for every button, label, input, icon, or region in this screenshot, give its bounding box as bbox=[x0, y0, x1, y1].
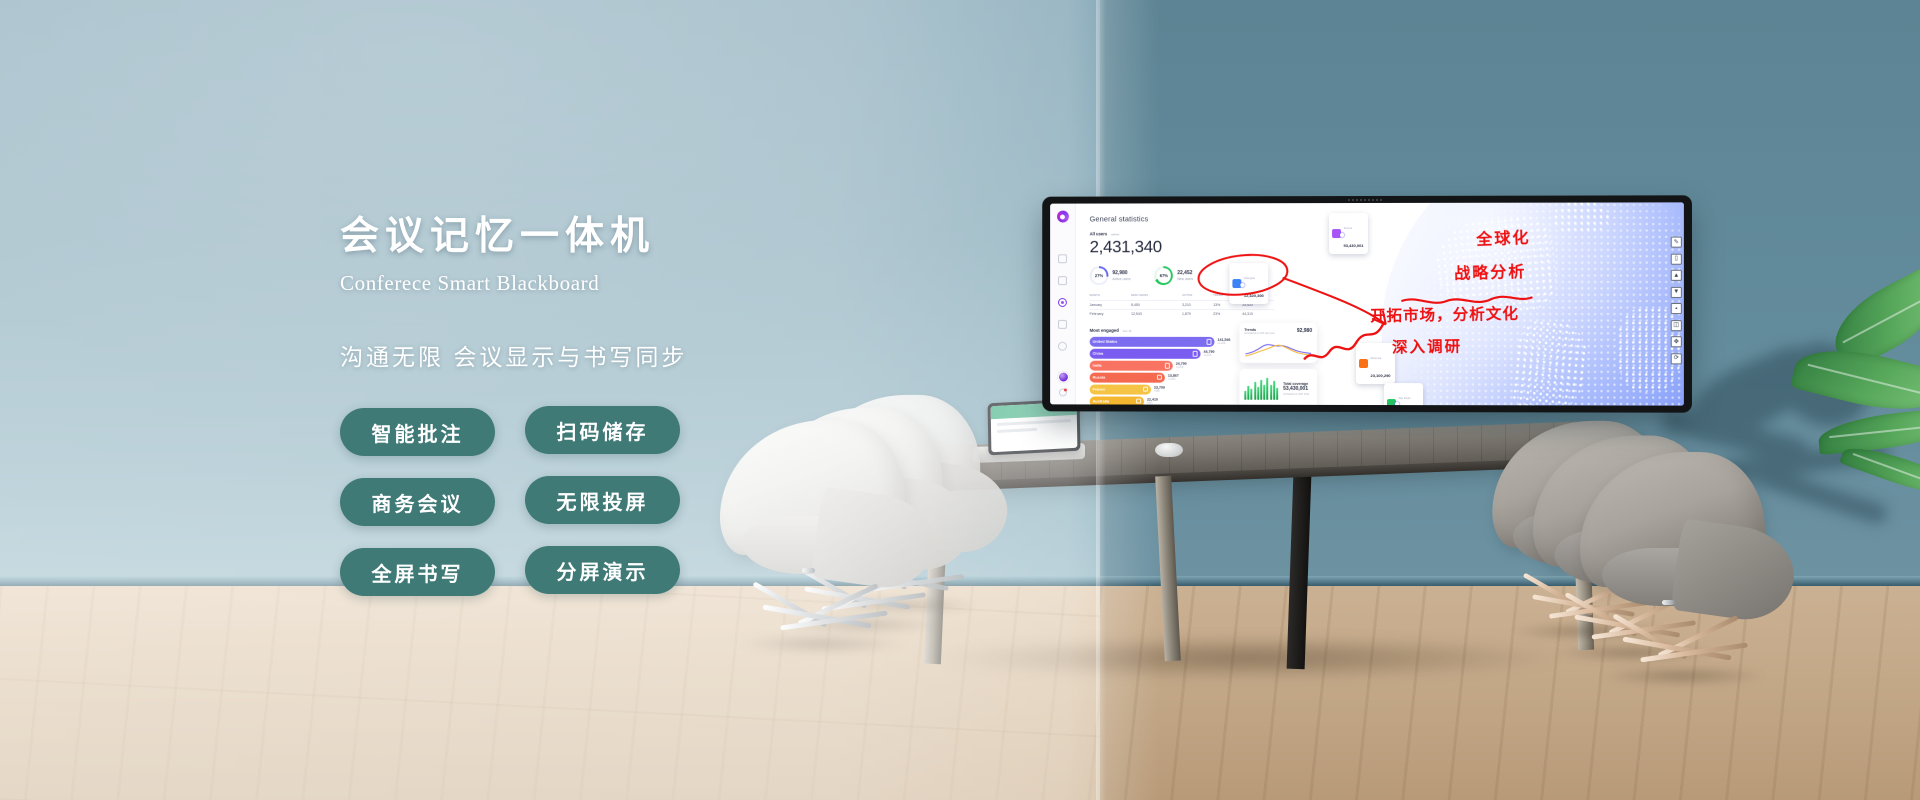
engaged-bar: India bbox=[1090, 361, 1173, 370]
engaged-country: China bbox=[1093, 351, 1104, 356]
flag-icon bbox=[1157, 375, 1162, 380]
shape-icon[interactable]: ▪ bbox=[1671, 303, 1682, 314]
all-users-label: All users bbox=[1090, 231, 1108, 236]
engaged-value-group: 24,790+1,200 bbox=[1176, 362, 1187, 369]
kpi-label: New users bbox=[1177, 277, 1193, 281]
donut-chart-new: 67% bbox=[1154, 266, 1173, 285]
engaged-bar: Russia bbox=[1090, 373, 1165, 382]
engaged-delta: +980 bbox=[1154, 390, 1165, 393]
engaged-value-group: 13,867+1,201 bbox=[1168, 374, 1179, 381]
expand-icon[interactable]: ✥ bbox=[1671, 336, 1682, 347]
database-icon[interactable] bbox=[1058, 320, 1067, 329]
engaged-bar: Australia bbox=[1090, 397, 1144, 406]
card-subtitle: Compared to 12% last year bbox=[1244, 332, 1274, 335]
engaged-delta: +1,201 bbox=[1168, 378, 1179, 381]
map-marker-monrovia[interactable]: Monrovia 23,100,290 bbox=[1356, 343, 1395, 384]
kpi-new-users: 67% 22,452 New users bbox=[1154, 266, 1193, 285]
engaged-bar: United States bbox=[1090, 337, 1215, 346]
marker-value: 12,320,300 bbox=[1244, 293, 1264, 298]
engaged-delta: +1,200 bbox=[1176, 366, 1187, 369]
all-users-row: All users series bbox=[1090, 231, 1684, 237]
flag-icon bbox=[1192, 351, 1197, 356]
card-trends[interactable]: Trends Compared to 12% last year 92,980 bbox=[1239, 323, 1317, 363]
coverage-bar-chart bbox=[1244, 378, 1278, 400]
map-dot bbox=[1340, 233, 1344, 237]
list-icon[interactable] bbox=[1058, 276, 1067, 285]
board-toolbar: ✎▯▲▼▪◫✥⟳ bbox=[1671, 237, 1682, 364]
engaged-delta: +1,220 bbox=[1217, 342, 1230, 345]
feature-pill-split-present[interactable]: 分屏演示 bbox=[525, 546, 680, 594]
map-marker-toronto[interactable]: Toronto 53,430,001 bbox=[1329, 213, 1367, 254]
dashboard-main: General statistics All users series 2,43… bbox=[1076, 202, 1684, 405]
chair bbox=[1580, 452, 1790, 682]
engaged-country: Australia bbox=[1093, 399, 1109, 404]
engaged-bar: France bbox=[1090, 385, 1151, 394]
hero-tagline: 沟通无限 会议显示与书写同步 bbox=[340, 338, 860, 372]
settings-icon[interactable] bbox=[1058, 342, 1067, 351]
arrow-down-icon[interactable]: ▼ bbox=[1671, 286, 1682, 297]
card-subtitle: Compared to 32% 2011 bbox=[1283, 393, 1309, 396]
screen-content: General statistics All users series 2,43… bbox=[1050, 202, 1684, 405]
dashboard-sidebar bbox=[1050, 204, 1076, 405]
bell-icon[interactable] bbox=[1059, 388, 1067, 396]
hero-copy: 会议记忆一体机 Conferece Smart Blackboard 沟通无限 … bbox=[340, 205, 860, 596]
kpi-value: 92,980 bbox=[1112, 270, 1130, 276]
split-icon[interactable]: ◫ bbox=[1671, 320, 1682, 331]
table-shadow bbox=[930, 636, 1570, 680]
map-dot bbox=[1395, 402, 1399, 406]
feature-pill-unlimited-cast[interactable]: 无限投屏 bbox=[525, 476, 680, 524]
camera-icon bbox=[1348, 198, 1382, 200]
feature-pill-grid: 智能批注 扫码储存 商务会议 无限投屏 全屏书写 分屏演示 bbox=[340, 408, 860, 596]
engaged-country: United States bbox=[1093, 339, 1118, 344]
feature-pill-qr-save[interactable]: 扫码储存 bbox=[525, 406, 680, 454]
donut-chart-active: 27% bbox=[1090, 266, 1109, 285]
card-total-coverage[interactable]: Total coverage 53,430,001 Compared to 32… bbox=[1239, 369, 1317, 406]
map-dot bbox=[1240, 283, 1244, 287]
total-users-value: 2,431,340 bbox=[1090, 237, 1684, 258]
engaged-bar: China bbox=[1090, 349, 1201, 358]
feature-pill-fullscreen-write[interactable]: 全屏书写 bbox=[340, 548, 495, 596]
marker-city: Toronto bbox=[1344, 227, 1353, 230]
user-avatar[interactable] bbox=[1058, 372, 1069, 383]
most-engaged-select[interactable]: see all bbox=[1123, 329, 1132, 333]
marker-value: 53,430,001 bbox=[1344, 243, 1364, 248]
dashboard-title: General statistics bbox=[1090, 213, 1684, 223]
all-users-select[interactable]: series bbox=[1111, 232, 1119, 236]
marker-city: Shanghai bbox=[1244, 277, 1255, 280]
flag-icon bbox=[1206, 339, 1211, 344]
page-title: 会议记忆一体机 bbox=[340, 205, 860, 261]
smart-blackboard-display[interactable]: General statistics All users series 2,43… bbox=[1042, 195, 1692, 412]
dashboard-icon[interactable] bbox=[1058, 254, 1067, 263]
card-value: 53,430,001 bbox=[1283, 386, 1309, 392]
marker-city: São Paulo bbox=[1399, 397, 1411, 400]
arrow-up-icon[interactable]: ▲ bbox=[1671, 270, 1682, 281]
marker-city: Monrovia bbox=[1370, 357, 1381, 360]
engaged-delta: +1,213 bbox=[1204, 354, 1215, 357]
engaged-value-group: 141,546+1,220 bbox=[1217, 338, 1230, 345]
eraser-icon[interactable]: ▯ bbox=[1671, 253, 1682, 264]
feature-pill-business-meeting[interactable]: 商务会议 bbox=[340, 478, 495, 526]
engaged-value-group: 23,709+980 bbox=[1154, 386, 1165, 393]
map-marker-sao-paulo[interactable]: São Paulo 45,790,010 bbox=[1384, 383, 1423, 406]
refresh-icon[interactable]: ⟳ bbox=[1671, 353, 1682, 364]
kpi-label: Active users bbox=[1112, 277, 1130, 281]
kpi-row: 27% 92,980 Active users 67% 22,452 bbox=[1090, 266, 1684, 285]
engaged-country: Russia bbox=[1093, 375, 1106, 380]
flag-icon bbox=[1136, 399, 1141, 404]
most-engaged-label: Most engaged bbox=[1090, 328, 1119, 333]
flag-icon bbox=[1143, 387, 1148, 392]
globe-icon[interactable] bbox=[1058, 298, 1067, 307]
engaged-value-group: 22,410+812 bbox=[1147, 398, 1158, 405]
kpi-value: 22,452 bbox=[1177, 270, 1193, 276]
card-title: Trends bbox=[1244, 327, 1274, 331]
kpi-active-users: 27% 92,980 Active users bbox=[1090, 266, 1131, 285]
page-subtitle: Conferece Smart Blackboard bbox=[340, 271, 860, 296]
table-row: February 12,543 1,879 23% 44,310 bbox=[1090, 309, 1275, 318]
most-engaged-header: Most engaged see all bbox=[1090, 328, 1684, 333]
feature-pill-smart-annotation[interactable]: 智能批注 bbox=[340, 408, 495, 456]
marker-value: 23,100,290 bbox=[1370, 373, 1390, 378]
engaged-value-group: 44,790+1,213 bbox=[1204, 350, 1215, 357]
kpi-percent: 67% bbox=[1160, 273, 1168, 278]
logo-ring-icon[interactable] bbox=[1057, 211, 1069, 223]
kpi-percent: 27% bbox=[1095, 273, 1103, 278]
engaged-country: France bbox=[1093, 387, 1106, 392]
trends-line-chart bbox=[1244, 338, 1312, 363]
potted-plant bbox=[1800, 290, 1920, 620]
engaged-delta: +812 bbox=[1147, 402, 1158, 405]
bag-icon bbox=[1359, 359, 1367, 368]
card-value: 92,980 bbox=[1297, 327, 1312, 333]
flag-icon bbox=[1165, 363, 1170, 368]
conference-microphone bbox=[1155, 443, 1183, 457]
map-marker-shanghai[interactable]: Shanghai 12,320,300 bbox=[1229, 263, 1267, 304]
engaged-country: India bbox=[1093, 363, 1102, 368]
pen-icon[interactable]: ✎ bbox=[1671, 237, 1682, 248]
